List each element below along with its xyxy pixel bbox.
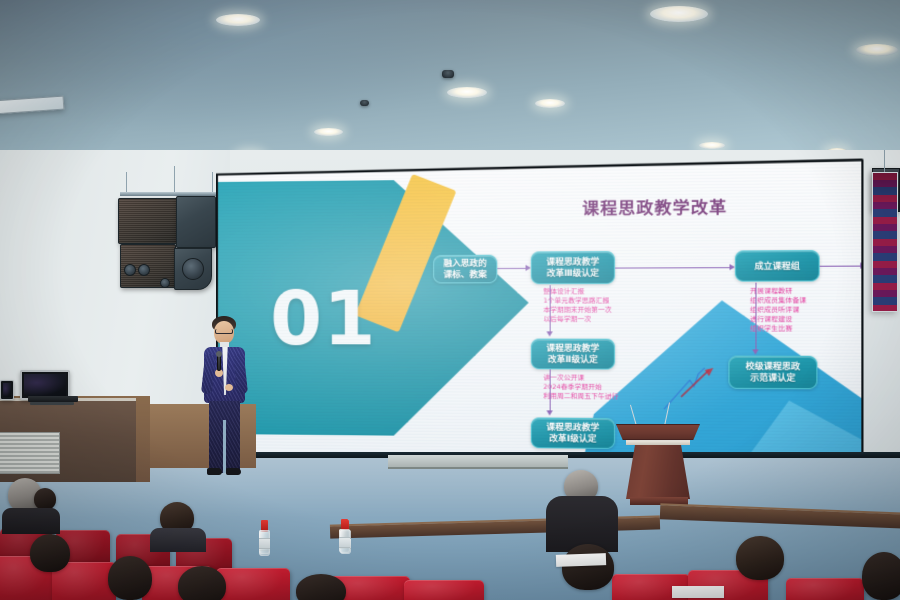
- desk-vent-panel: [0, 432, 60, 474]
- presenter: [192, 316, 264, 486]
- audience-seat[interactable]: [404, 580, 484, 600]
- vertical-banner: [872, 172, 898, 312]
- slide-surface[interactable]: 01 课程思政教学改革 融入思政的 课标、教案 课程思政教学 改革Ⅲ级认定 成立…: [218, 161, 861, 471]
- flow-box-source[interactable]: 融入思政的 课标、教案: [433, 255, 497, 284]
- note-level-3: 整体设计汇报 1个单元教学思路汇报 本学期期末开始第一次 以后每学期一次: [543, 287, 659, 325]
- line-array-speaker: [118, 198, 178, 244]
- microphone-head: [216, 351, 222, 357]
- flow-box-course-group[interactable]: 成立课程组: [735, 250, 820, 282]
- speaker-cone: [124, 264, 136, 276]
- audience-head: [736, 536, 784, 580]
- podium-body: [626, 445, 690, 499]
- arrow-head-down: [752, 349, 758, 354]
- handout-paper: [672, 586, 724, 598]
- ceiling-light: [535, 99, 565, 108]
- connector-level3-to-level2: [550, 285, 551, 334]
- connector-level2-to-level1: [550, 369, 551, 412]
- flow-box-level-3[interactable]: 课程思政教学 改革Ⅲ级认定: [531, 251, 615, 284]
- section-number: 01: [270, 276, 376, 363]
- bottle-cap: [261, 520, 267, 530]
- ceiling-light: [699, 142, 725, 149]
- speaker-cone: [138, 264, 150, 276]
- bottle-cap: [341, 519, 347, 529]
- slide-title: 课程思政教学改革: [582, 193, 727, 219]
- ceiling-light: [314, 128, 343, 136]
- speaker-array-left: [118, 186, 222, 296]
- auditorium-scene: 01 课程思政教学改革 融入思政的 课标、教案 课程思政教学 改革Ⅲ级认定 成立…: [0, 0, 900, 600]
- presenter-shoe-right: [226, 468, 241, 475]
- podium-trim: [626, 440, 690, 445]
- presenter-shoe-left: [207, 468, 222, 475]
- speaker-hang-wire: [126, 172, 127, 192]
- glasses-icon: [215, 329, 233, 334]
- audience-shoulders: [2, 508, 60, 534]
- note-level-2: 讲一次公开课 2024春季学期开始 利用周二和周五下午进行: [543, 373, 670, 402]
- arrow-head-right: [860, 262, 861, 268]
- audience-head: [30, 534, 70, 572]
- ceiling-light: [650, 6, 708, 22]
- smoke-detector-icon: [360, 100, 369, 106]
- audience-shoulders: [150, 528, 206, 552]
- connector-group-to-teacher: [820, 266, 862, 267]
- audience-head: [296, 574, 346, 600]
- speaker-cone: [160, 278, 170, 288]
- bottle-label: [259, 538, 270, 548]
- flow-box-level-1[interactable]: 课程思政教学 改革Ⅰ级认定: [531, 417, 615, 449]
- audience-seat[interactable]: [216, 568, 290, 600]
- ceiling-light: [856, 44, 898, 56]
- water-bottle: [259, 520, 270, 554]
- water-bottle: [339, 519, 350, 553]
- flow-box-level-2[interactable]: 课程思政教学 改革Ⅱ级认定: [531, 339, 615, 370]
- speaker-hang-wire: [212, 172, 213, 192]
- bottle-label: [339, 537, 350, 547]
- audience-head: [562, 544, 614, 590]
- connector-source-to-level3: [497, 268, 526, 269]
- audience-head: [862, 552, 900, 600]
- arrow-head-down: [546, 410, 552, 415]
- ceiling-panel-light: [0, 96, 64, 115]
- audience-seat[interactable]: [786, 578, 864, 600]
- subwoofer-speaker: [176, 196, 216, 248]
- ceiling-light: [447, 87, 487, 98]
- audience-head: [34, 488, 56, 510]
- audience-head: [108, 556, 152, 600]
- projection-screen[interactable]: 01 课程思政教学改革 融入思政的 课标、教案 课程思政教学 改革Ⅲ级认定 成立…: [216, 158, 864, 473]
- leg-gap: [223, 420, 226, 473]
- stage-step: [388, 455, 568, 469]
- arrow-head-down: [546, 331, 552, 336]
- ceiling-light: [216, 14, 260, 26]
- handout-paper: [556, 553, 606, 567]
- speaker-cone: [182, 258, 204, 280]
- podium-top: [616, 424, 700, 440]
- note-course-group: 开展课程教研 组织成员集体备课 组织成员听评课 进行课程建设 组织学生比赛: [750, 287, 859, 335]
- speaker-hang-wire: [174, 166, 175, 192]
- connector-level3-to-group: [615, 267, 731, 269]
- audience-head: [178, 566, 226, 600]
- presenter-hand-free: [225, 384, 233, 391]
- smoke-detector-icon: [442, 70, 454, 78]
- connector-group-to-demo: [755, 283, 756, 352]
- keyboard[interactable]: [30, 402, 74, 405]
- flow-box-school-demo[interactable]: 校级课程思政 示范课认定: [728, 356, 817, 390]
- banner-hang-wire: [884, 150, 885, 172]
- control-monitor-secondary[interactable]: [0, 380, 14, 400]
